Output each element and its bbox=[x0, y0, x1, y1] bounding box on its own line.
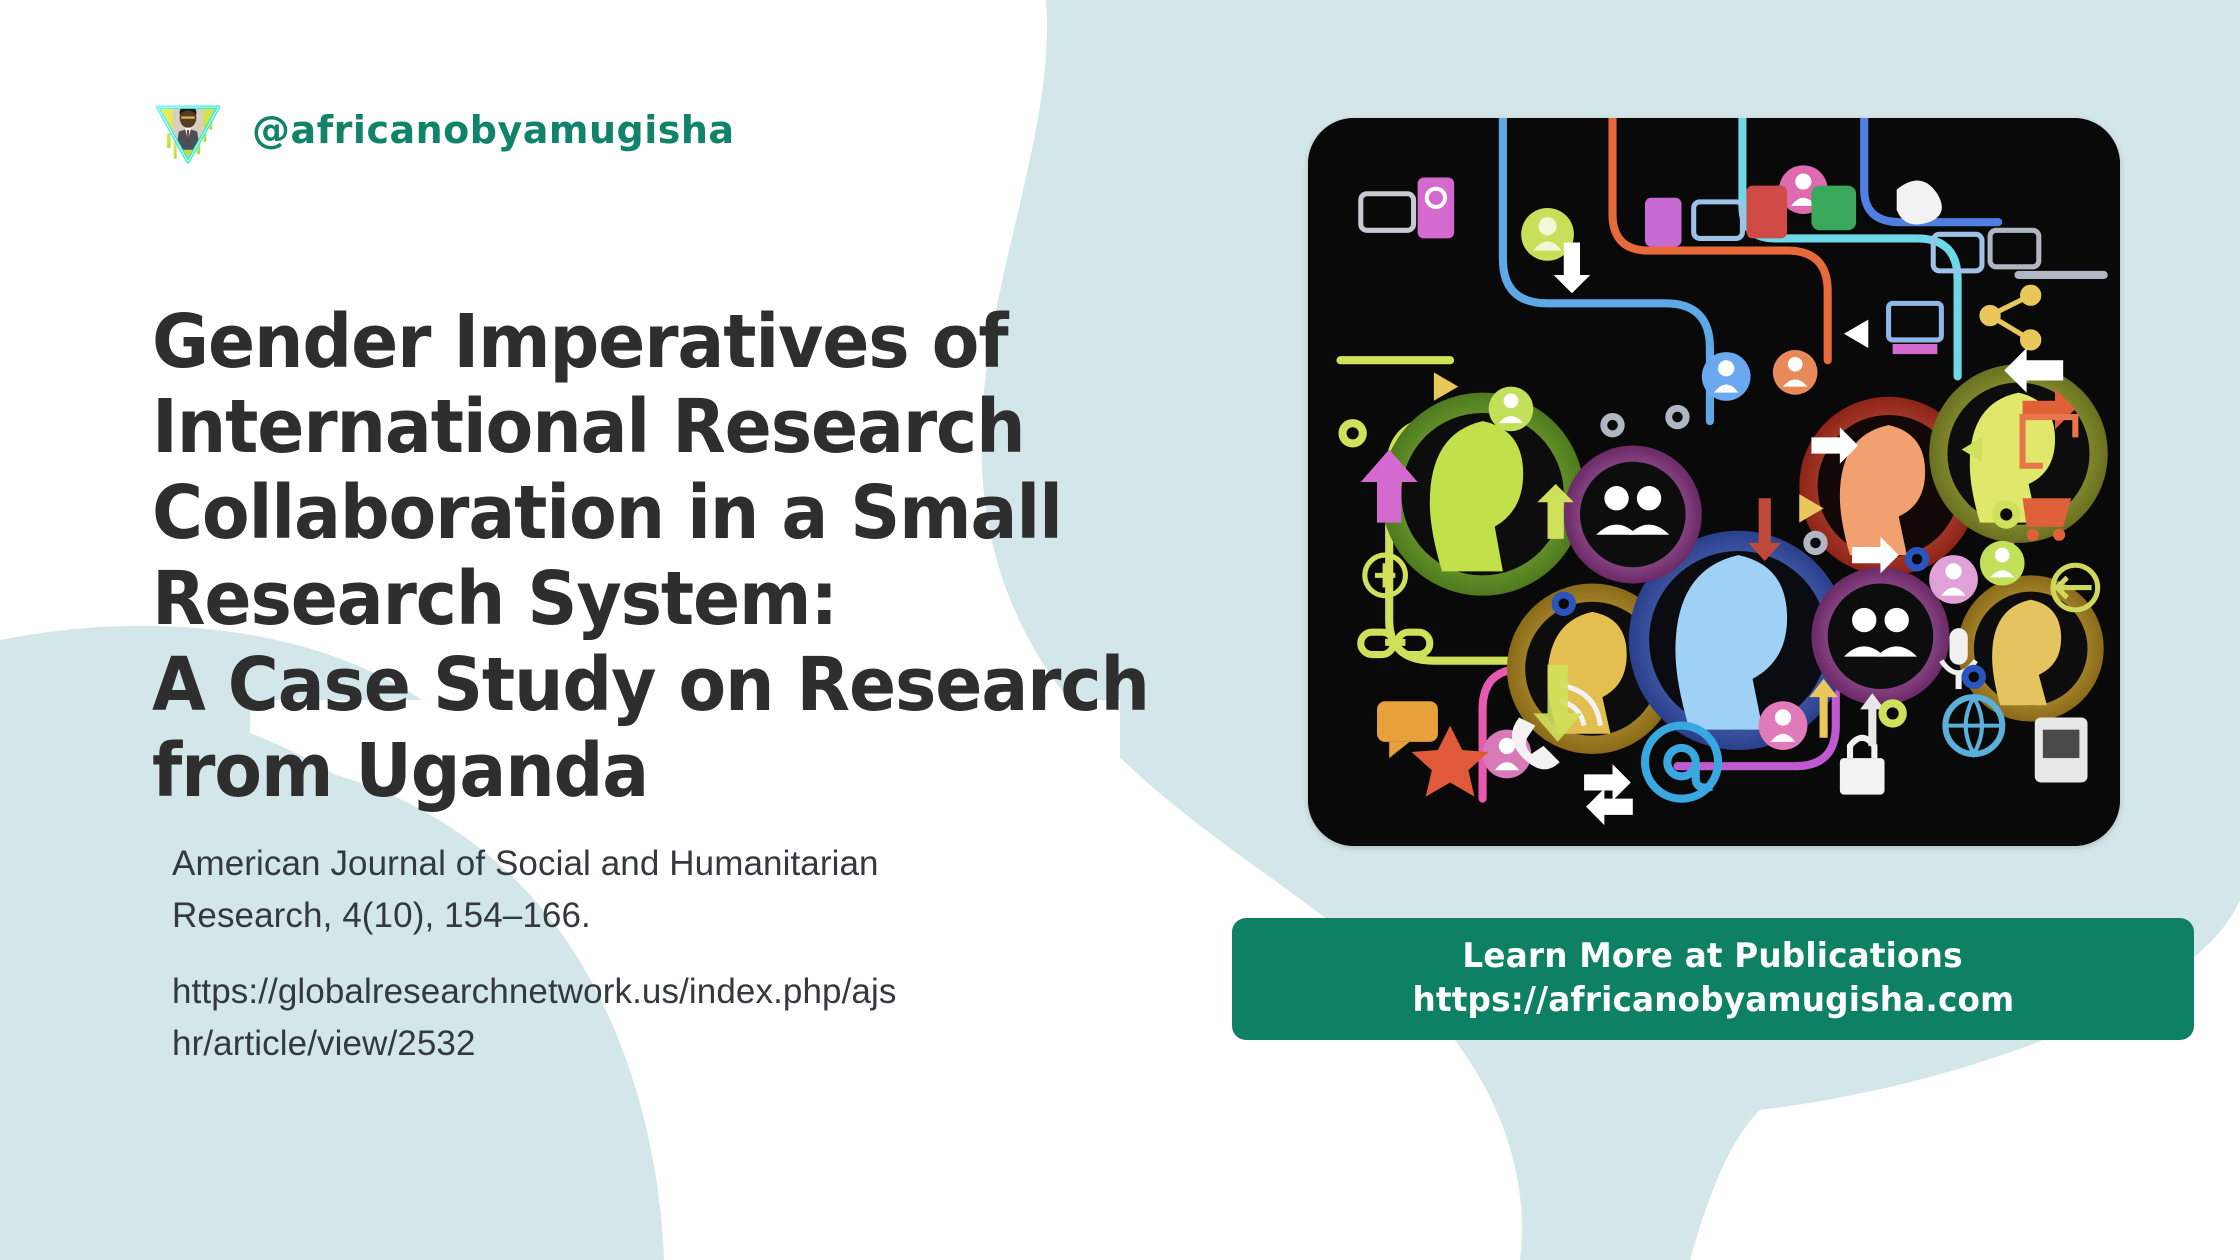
learn-more-cta-banner[interactable]: Learn More at Publications https://afric… bbox=[1232, 918, 2194, 1040]
citation-line: American Journal of Social and Humanitar… bbox=[172, 838, 1202, 890]
article-url[interactable]: https://globalresearchnetwork.us/index.p… bbox=[172, 966, 1202, 1070]
article-url-line: hr/article/view/2532 bbox=[172, 1018, 1202, 1070]
citation-line: Research, 4(10), 154–166. bbox=[172, 890, 1202, 942]
cta-headline: Learn More at Publications bbox=[1463, 935, 1963, 979]
avatar bbox=[150, 92, 226, 168]
handle-text: @africanobyamugisha bbox=[252, 108, 735, 152]
title-line: Collaboration in a Small bbox=[152, 471, 1242, 557]
page-title: Gender Imperatives of International Rese… bbox=[152, 300, 1242, 815]
article-url-line: https://globalresearchnetwork.us/index.p… bbox=[172, 966, 1202, 1018]
gear-plum-people-lower bbox=[1811, 567, 1949, 705]
title-line: International Research bbox=[152, 385, 1242, 471]
title-line: from Uganda bbox=[152, 729, 1242, 815]
social-media-post-card: @africanobyamugisha Gender Imperatives o… bbox=[0, 0, 2240, 1260]
cta-website-url: https://africanobyamugisha.com bbox=[1412, 979, 2014, 1023]
collaboration-network-illustration bbox=[1308, 118, 2120, 846]
title-line: A Case Study on Research bbox=[152, 643, 1242, 729]
title-line: Gender Imperatives of bbox=[152, 300, 1242, 386]
journal-citation: American Journal of Social and Humanitar… bbox=[172, 838, 1202, 942]
gear-plum-people-upper bbox=[1564, 445, 1702, 583]
title-line: Research System: bbox=[152, 557, 1242, 643]
brand-header: @africanobyamugisha bbox=[150, 92, 735, 168]
